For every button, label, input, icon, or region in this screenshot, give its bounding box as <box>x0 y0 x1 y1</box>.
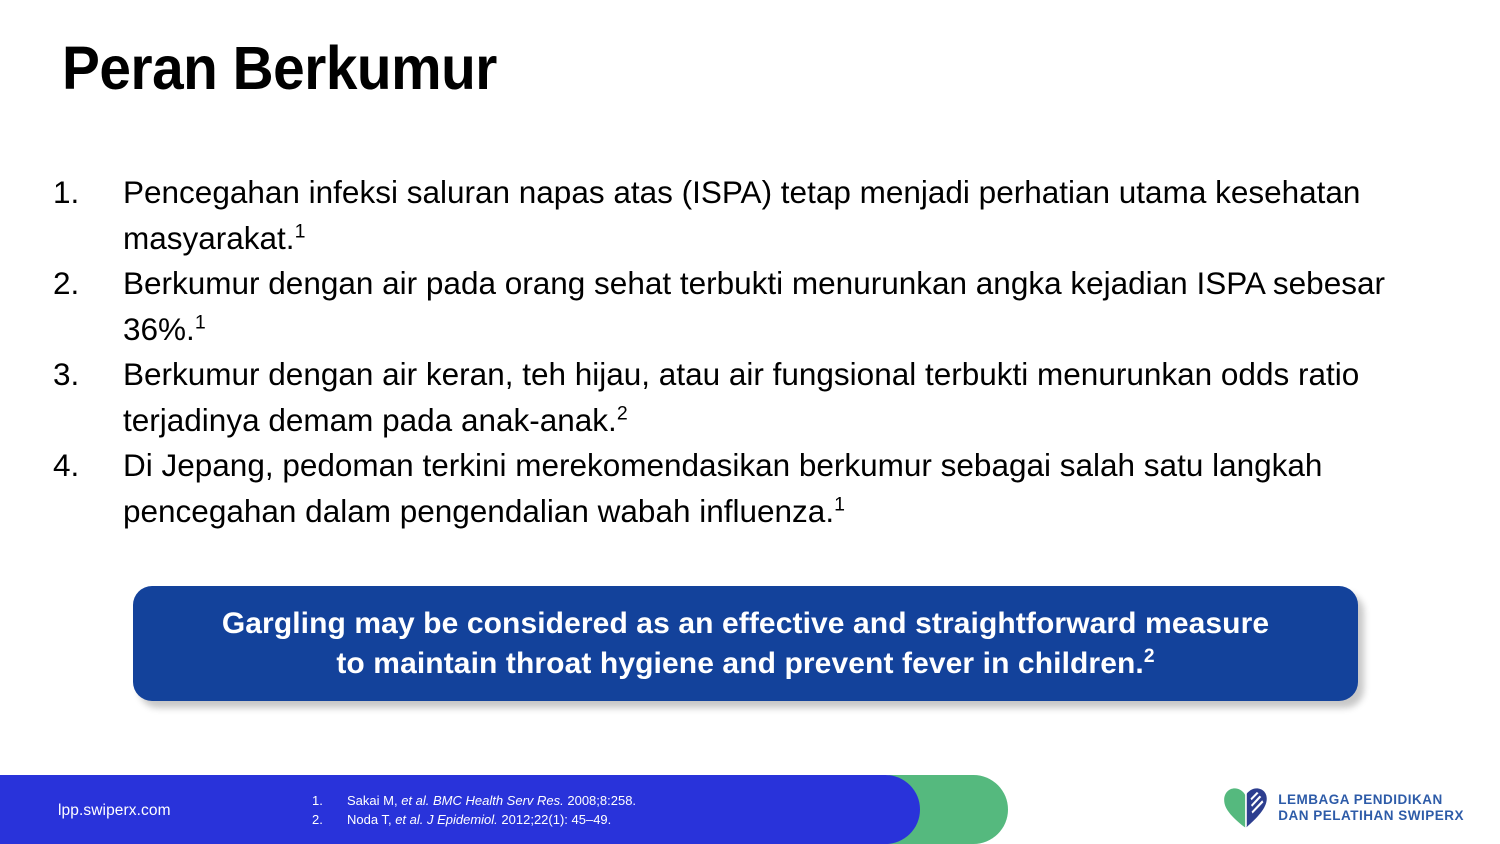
list-item-body: Pencegahan infeksi saluran napas atas (I… <box>123 174 1360 256</box>
reference-citation: 2012;22(1): 45–49. <box>498 812 611 827</box>
list-item: 4. Di Jepang, pedoman terkini merekomend… <box>48 443 1448 534</box>
callout-line-2: to maintain throat hygiene and prevent f… <box>336 647 1144 680</box>
reference-text: Sakai M, et al. BMC Health Serv Res. 200… <box>347 791 636 810</box>
footer-url[interactable]: lpp.swiperx.com <box>58 802 171 820</box>
callout-box: Gargling may be considered as an effecti… <box>133 586 1358 701</box>
list-item-text: Di Jepang, pedoman terkini merekomendasi… <box>123 443 1413 534</box>
list-item-superscript: 1 <box>295 220 306 242</box>
list-item-superscript: 1 <box>195 311 206 333</box>
slide: Peran Berkumur 1. Pencegahan infeksi sal… <box>0 0 1500 844</box>
list-item-text: Berkumur dengan air pada orang sehat ter… <box>123 261 1413 352</box>
list-item: 2. Berkumur dengan air pada orang sehat … <box>48 261 1448 352</box>
reference-journal: et al. BMC Health Serv Res. <box>401 793 564 808</box>
list-item-body: Di Jepang, pedoman terkini merekomendasi… <box>123 447 1322 529</box>
reference-author: Sakai M, <box>347 793 401 808</box>
callout-line-1: Gargling may be considered as an effecti… <box>222 607 1269 640</box>
list-item-superscript: 2 <box>617 402 628 424</box>
list-item-number: 1. <box>48 170 123 216</box>
reference-item: 1. Sakai M, et al. BMC Health Serv Res. … <box>312 791 636 810</box>
reference-citation: 2008;8:258. <box>564 793 636 808</box>
page-title: Peran Berkumur <box>62 36 497 100</box>
reference-text: Noda T, et al. J Epidemiol. 2012;22(1): … <box>347 810 636 829</box>
reference-number: 1. <box>312 791 347 810</box>
list-item-superscript: 1 <box>834 493 845 515</box>
heart-book-icon <box>1223 786 1269 830</box>
logo: LEMBAGA PENDIDIKAN DAN PELATIHAN SWIPERX <box>1223 786 1464 830</box>
reference-author: Noda T, <box>347 812 395 827</box>
logo-line-1: LEMBAGA PENDIDIKAN <box>1278 792 1464 809</box>
list-item: 3. Berkumur dengan air keran, teh hijau,… <box>48 352 1448 443</box>
body-list: 1. Pencegahan infeksi saluran napas atas… <box>48 170 1448 534</box>
list-item-body: Berkumur dengan air pada orang sehat ter… <box>123 265 1385 347</box>
list-item-number: 2. <box>48 261 123 307</box>
logo-text: LEMBAGA PENDIDIKAN DAN PELATIHAN SWIPERX <box>1278 792 1464 825</box>
reference-number: 2. <box>312 810 347 829</box>
reference-item: 2. Noda T, et al. J Epidemiol. 2012;22(1… <box>312 810 636 829</box>
callout-text: Gargling may be considered as an effecti… <box>222 604 1269 684</box>
logo-line-2: DAN PELATIHAN SWIPERX <box>1278 808 1464 825</box>
reference-journal: et al. J Epidemiol. <box>395 812 498 827</box>
list-item-text: Berkumur dengan air keran, teh hijau, at… <box>123 352 1413 443</box>
list-item-text: Pencegahan infeksi saluran napas atas (I… <box>123 170 1413 261</box>
list-item-number: 4. <box>48 443 123 489</box>
list-item: 1. Pencegahan infeksi saluran napas atas… <box>48 170 1448 261</box>
reference-list: 1. Sakai M, et al. BMC Health Serv Res. … <box>312 791 636 829</box>
callout-superscript: 2 <box>1144 646 1155 667</box>
list-item-body: Berkumur dengan air keran, teh hijau, at… <box>123 356 1359 438</box>
list-item-number: 3. <box>48 352 123 398</box>
